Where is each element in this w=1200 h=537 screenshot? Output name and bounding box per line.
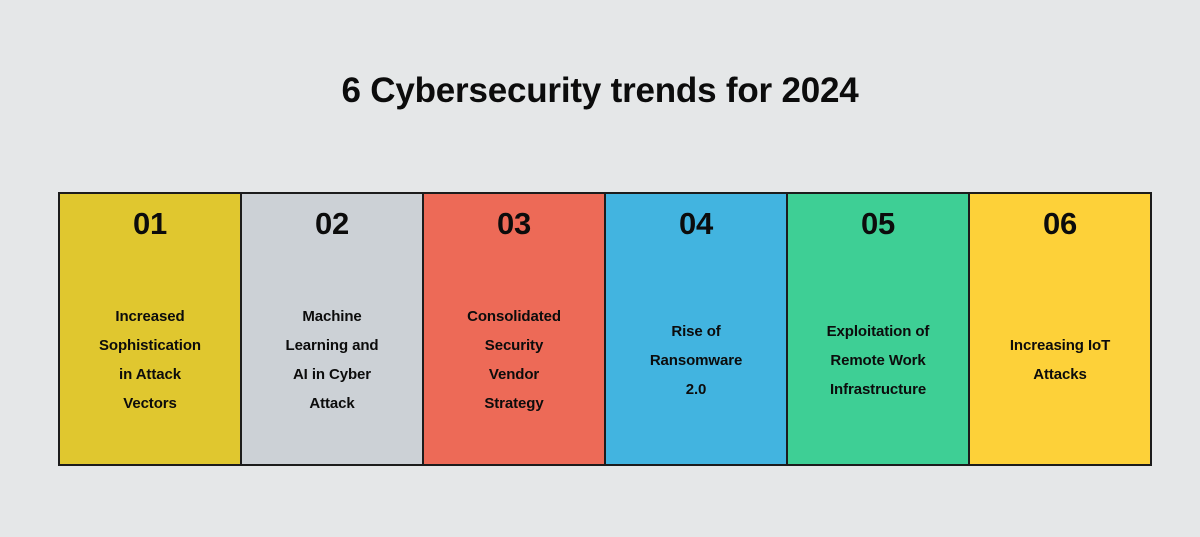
trend-cell-02[interactable]: 02 Machine Learning and AI in Cyber Atta… (242, 194, 424, 464)
trend-label-01: Increased Sophistication in Attack Vecto… (68, 302, 232, 418)
trend-number-01: 01 (60, 205, 240, 243)
trends-table: 01 Increased Sophistication in Attack Ve… (58, 192, 1152, 466)
trend-label-wrap-04: Rise of Ransomware 2.0 (606, 256, 786, 464)
trend-number-06: 06 (970, 205, 1150, 243)
trend-label-wrap-05: Exploitation of Remote Work Infrastructu… (788, 256, 968, 464)
trend-number-04: 04 (606, 205, 786, 243)
trend-cell-05[interactable]: 05 Exploitation of Remote Work Infrastru… (788, 194, 970, 464)
trend-cell-04[interactable]: 04 Rise of Ransomware 2.0 (606, 194, 788, 464)
trend-cell-06[interactable]: 06 Increasing IoT Attacks (970, 194, 1150, 464)
trend-label-05: Exploitation of Remote Work Infrastructu… (796, 317, 960, 404)
trend-label-06: Increasing IoT Attacks (978, 331, 1142, 389)
trend-label-wrap-06: Increasing IoT Attacks (970, 256, 1150, 464)
trend-label-wrap-03: Consolidated Security Vendor Strategy (424, 256, 604, 464)
trend-label-wrap-02: Machine Learning and AI in Cyber Attack (242, 256, 422, 464)
trend-cell-03[interactable]: 03 Consolidated Security Vendor Strategy (424, 194, 606, 464)
trend-label-wrap-01: Increased Sophistication in Attack Vecto… (60, 256, 240, 464)
trend-number-03: 03 (424, 205, 604, 243)
trend-number-02: 02 (242, 205, 422, 243)
trend-label-04: Rise of Ransomware 2.0 (614, 317, 778, 404)
trend-label-02: Machine Learning and AI in Cyber Attack (250, 302, 414, 418)
trend-number-05: 05 (788, 205, 968, 243)
trend-cell-01[interactable]: 01 Increased Sophistication in Attack Ve… (60, 194, 242, 464)
page-title: 6 Cybersecurity trends for 2024 (0, 68, 1200, 114)
trend-label-03: Consolidated Security Vendor Strategy (432, 302, 596, 418)
